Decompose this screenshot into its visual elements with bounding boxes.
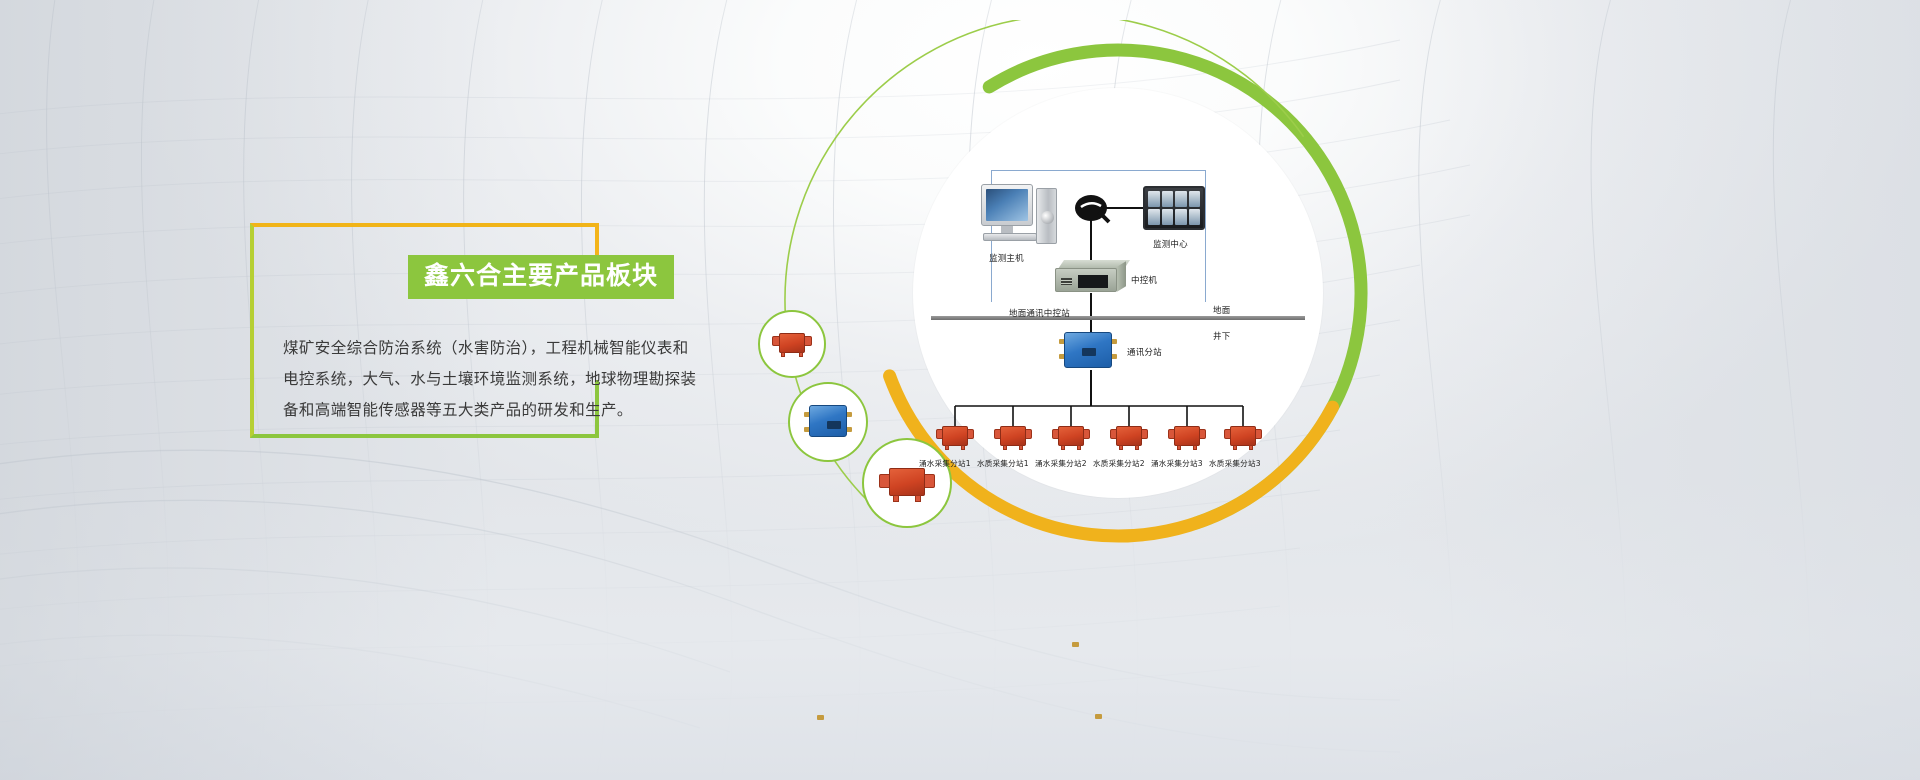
product-bubble-red-small[interactable] [758,310,826,378]
product-description: 煤矿安全综合防治系统（水害防治），工程机械智能仪表和 电控系统，大气、水与土壤环… [283,333,703,426]
collector-node-3 [1052,424,1090,450]
label-central-controller: 中控机 [1131,274,1157,286]
monitoring-host-icon [981,184,1059,246]
label-surface-control-station: 地面通讯中控站 [1009,307,1070,319]
label-zone-underground: 井下 [1213,330,1230,342]
label-collector-4: 水质采集分站2 [1093,458,1145,469]
collector-node-6 [1224,424,1262,450]
label-communication-substation: 通讯分站 [1127,346,1162,358]
description-line-1: 煤矿安全综合防治系统（水害防治），工程机械智能仪表和 [283,333,703,364]
label-collector-6: 水质采集分站3 [1209,458,1261,469]
monitoring-center-icon [1143,186,1205,230]
description-line-3: 备和高端智能传感器等五大类产品的研发和生产。 [283,395,703,426]
label-zone-above-ground: 地面 [1213,304,1230,316]
label-collector-3: 涌水采集分站2 [1035,458,1087,469]
communication-substation-icon [1059,332,1117,370]
collector-node-5 [1168,424,1206,450]
label-collector-2: 水质采集分站1 [977,458,1029,469]
ground-separator-line [931,316,1305,320]
central-controller-icon [1055,260,1127,294]
red-junction-box-icon [772,331,812,357]
description-line-2: 电控系统，大气、水与土壤环境监测系统，地球物理勘探装 [283,364,703,395]
page-title: 鑫六合主要产品板块 [408,255,674,299]
label-monitoring-host: 监测主机 [989,252,1024,264]
banner-stage: 鑫六合主要产品板块 煤矿安全综合防治系统（水害防治），工程机械智能仪表和 电控系… [0,0,1920,780]
label-collector-1: 涌水采集分站1 [919,458,971,469]
product-bubble-blue[interactable] [788,382,868,462]
blue-communication-box-icon [804,405,852,439]
label-monitoring-center: 监测中心 [1153,238,1188,250]
collector-node-1 [936,424,974,450]
collector-node-4 [1110,424,1148,450]
label-collector-5: 涌水采集分站3 [1151,458,1203,469]
collector-node-2 [994,424,1032,450]
system-topology-diagram: 监测主机 监测中心 中控机 地面通讯中控站 地面 井下 通讯分站 [913,88,1323,498]
